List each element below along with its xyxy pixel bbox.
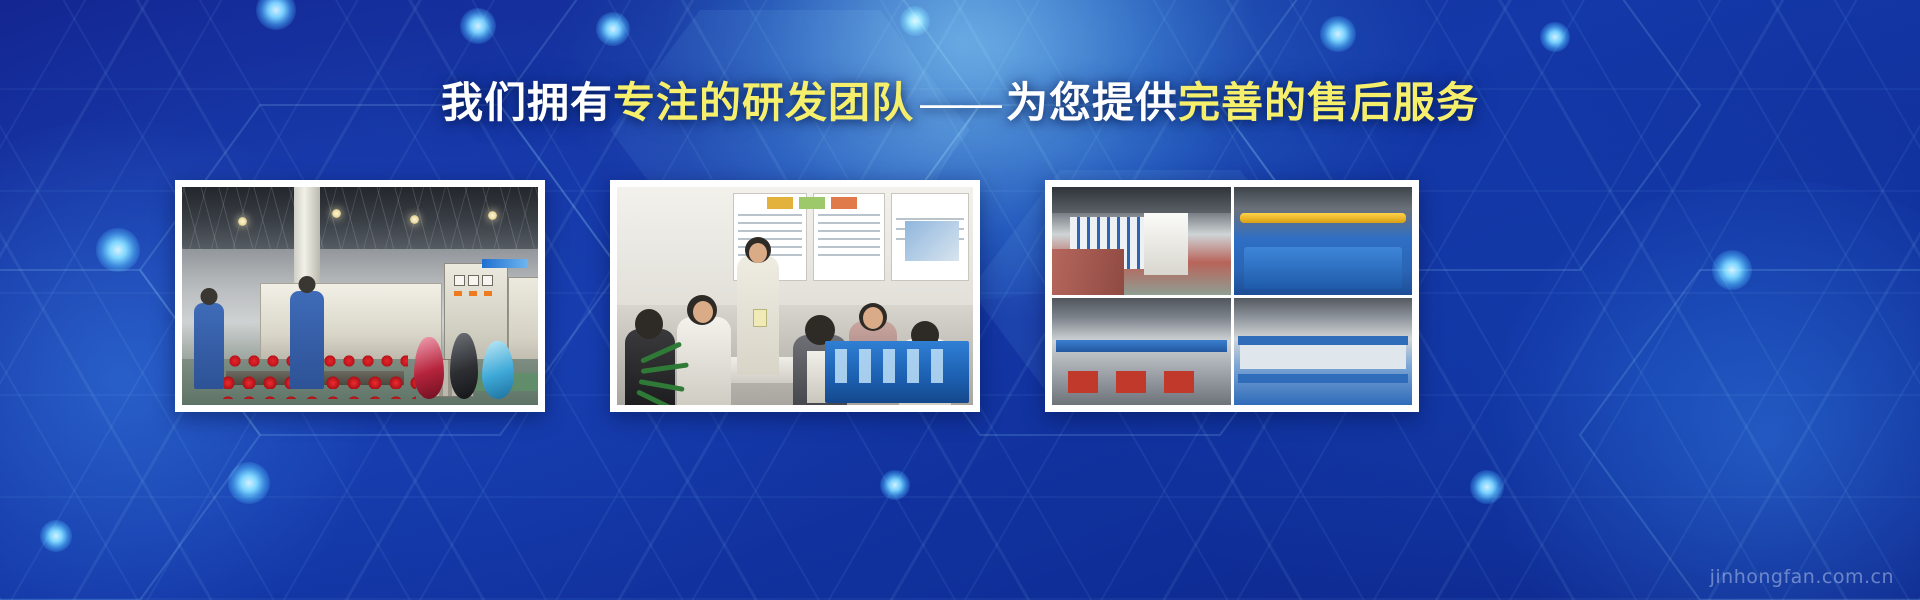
photo-frame — [617, 187, 973, 405]
photo-card-team-meeting[interactable] — [610, 180, 980, 412]
overhead-beam — [1238, 336, 1409, 345]
poster-swatch — [799, 197, 825, 209]
poster-swatch — [831, 197, 857, 209]
blue-tank-line — [1244, 247, 1403, 289]
workshop-roof — [1052, 187, 1231, 213]
gauge-icon — [482, 275, 493, 286]
lower-beam — [1238, 374, 1409, 383]
hanging-hooks — [1240, 345, 1407, 371]
ceiling-lamp-icon — [238, 217, 247, 226]
page-title: 我们拥有专注的研发团队——为您提供完善的售后服务 — [0, 82, 1920, 124]
site-watermark: jinhongfan.com.cn — [1710, 566, 1894, 588]
collage-quadrant-workshop — [1052, 187, 1231, 295]
main-machine — [1144, 213, 1188, 275]
collage-quadrant-hanging-line — [1234, 298, 1413, 406]
product-vase-black — [450, 333, 478, 399]
potted-plant — [621, 349, 695, 405]
transfer-cart — [1116, 371, 1146, 393]
worker-figure — [194, 303, 224, 389]
photo-card-factory-line[interactable] — [175, 180, 545, 412]
conveyor-rail — [1056, 340, 1227, 352]
photo-frame — [1052, 187, 1412, 405]
transfer-cart — [1068, 371, 1098, 393]
red-floor-zone — [1052, 249, 1124, 295]
gauge-icon — [454, 275, 465, 286]
headline-segment-white-2: 为您提供 — [1006, 79, 1178, 126]
promo-banner: 我们拥有专注的研发团队——为您提供完善的售后服务 — [0, 0, 1920, 600]
person-face — [863, 307, 883, 329]
poster-swatch — [767, 197, 793, 209]
headline-segment-yellow-2: 完善的售后服务 — [1178, 79, 1479, 126]
roof-truss — [182, 187, 538, 249]
product-vase-red — [414, 337, 444, 399]
lanyard-badge — [753, 309, 767, 327]
yellow-pipe — [1240, 213, 1407, 223]
photo-card-equipment-collage[interactable] — [1045, 180, 1419, 412]
worker-figure — [290, 291, 324, 389]
indicator-led — [469, 291, 477, 296]
poster-swatch — [905, 221, 959, 261]
photo-frame — [182, 187, 538, 405]
ceiling-lamp-icon — [410, 215, 419, 224]
collage-quadrant-conveyor — [1052, 298, 1231, 406]
cabinet-badge — [482, 259, 528, 268]
headline-segment-yellow-1: 专注的研发团队 — [613, 79, 914, 126]
transfer-cart — [1164, 371, 1194, 393]
gauge-icon — [468, 275, 479, 286]
ceiling-lamp-icon — [488, 211, 497, 220]
collage-quadrant-blue-line — [1234, 187, 1413, 295]
person-face — [749, 243, 767, 263]
person-head — [635, 309, 663, 339]
headline-segment-white-1: 我们拥有 — [441, 79, 613, 126]
headline-dash: —— — [914, 79, 1006, 126]
indicator-led — [454, 291, 462, 296]
photo-factory-line-image — [182, 187, 538, 405]
photo-equipment-collage-image — [1052, 187, 1412, 405]
product-vase-blue — [482, 341, 514, 399]
machine-photo-inset — [825, 341, 969, 403]
person-face — [693, 301, 713, 323]
indicator-led — [484, 291, 492, 296]
photo-team-meeting-image — [617, 187, 973, 405]
ceiling-lamp-icon — [332, 209, 341, 218]
